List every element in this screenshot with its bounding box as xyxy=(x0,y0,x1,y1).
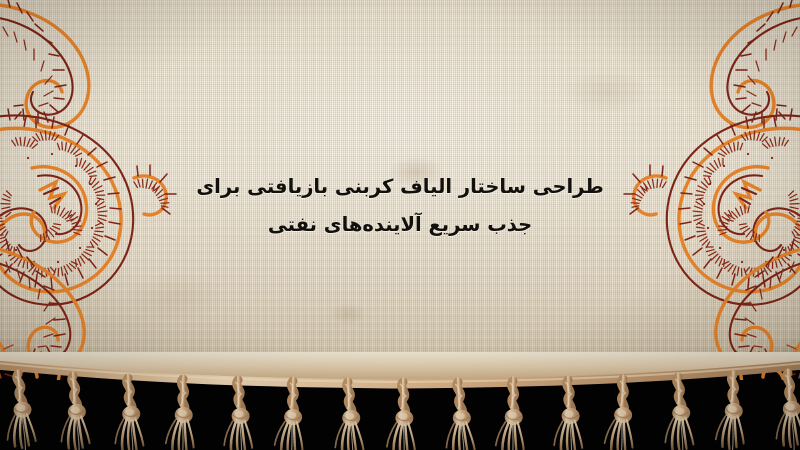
slide-canvas: .ob { fill:none; stroke:#e4822a; stroke-… xyxy=(0,0,800,450)
linen-weave-highlight xyxy=(0,0,800,378)
textile-cloth xyxy=(0,0,800,378)
tassel-fringe xyxy=(0,352,800,450)
